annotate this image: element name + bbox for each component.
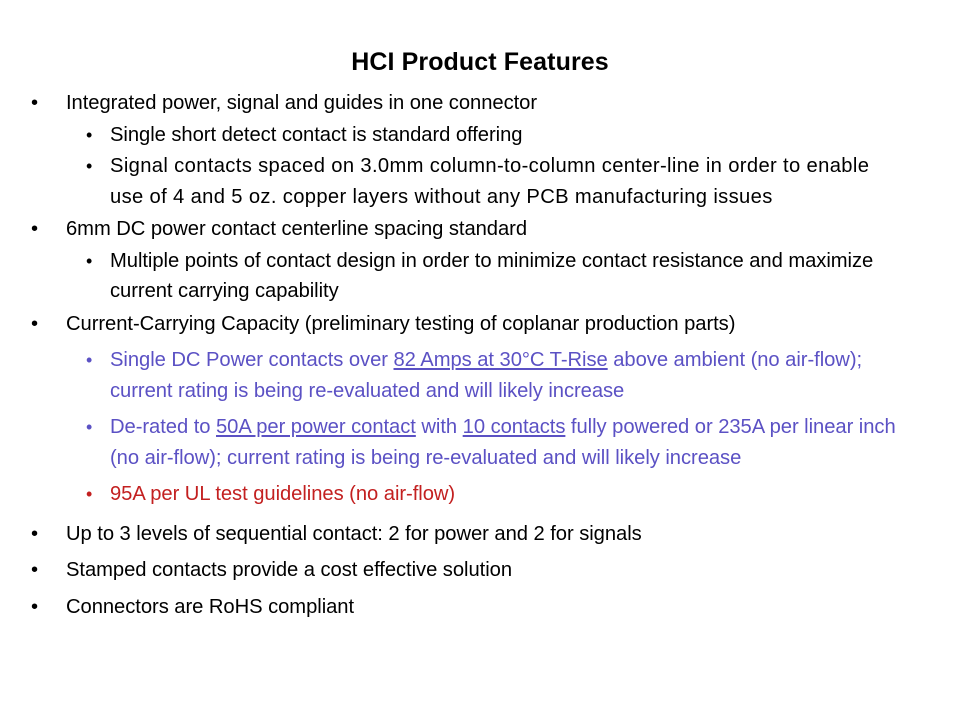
list-item-label: 95A per UL test guidelines (no air-flow) bbox=[110, 483, 455, 505]
bullet-list: Integrated power, signal and guides in o… bbox=[0, 88, 960, 623]
bullet-marker-icon bbox=[31, 555, 38, 586]
list-item: Multiple points of contact design in ord… bbox=[0, 246, 960, 307]
list-item-label: Integrated power, signal and guides in o… bbox=[66, 92, 537, 114]
bullet-marker-icon bbox=[31, 309, 38, 340]
bullet-marker-icon bbox=[31, 519, 38, 550]
bullet-marker-icon bbox=[31, 88, 38, 119]
list-item-label: Connectors are RoHS compliant bbox=[66, 596, 354, 618]
list-item-label: Single short detect contact is standard … bbox=[110, 124, 522, 146]
bullet-marker-icon bbox=[86, 246, 92, 277]
list-item: De-rated to 50A per power contact with 1… bbox=[0, 412, 960, 473]
bullet-marker-icon bbox=[86, 120, 92, 151]
bullet-marker-icon bbox=[86, 412, 92, 443]
list-item: Up to 3 levels of sequential contact: 2 … bbox=[0, 519, 960, 550]
list-item-label: Up to 3 levels of sequential contact: 2 … bbox=[66, 523, 642, 545]
text-segment-underlined: 10 contacts bbox=[463, 416, 566, 438]
text-segment: Single DC Power contacts over bbox=[110, 349, 394, 371]
list-item-label: Stamped contacts provide a cost effectiv… bbox=[66, 559, 512, 581]
text-segment-underlined: 50A per power contact bbox=[216, 416, 416, 438]
list-item-label: Current-Carrying Capacity (preliminary t… bbox=[66, 313, 735, 335]
list-item: Stamped contacts provide a cost effectiv… bbox=[0, 555, 960, 586]
list-item-label: Multiple points of contact design in ord… bbox=[110, 250, 873, 303]
slide-canvas: HCI Product Features Integrated power, s… bbox=[0, 0, 960, 720]
list-item: Signal contacts spaced on 3.0mm column-t… bbox=[0, 151, 960, 212]
text-segment: De-rated to bbox=[110, 416, 216, 438]
list-item: Current-Carrying Capacity (preliminary t… bbox=[0, 309, 960, 340]
list-item: Single short detect contact is standard … bbox=[0, 120, 960, 151]
list-item-label: Signal contacts spaced on 3.0mm column-t… bbox=[110, 155, 869, 208]
list-item-label: 6mm DC power contact centerline spacing … bbox=[66, 218, 527, 240]
bullet-marker-icon bbox=[86, 479, 92, 510]
bullet-marker-icon bbox=[31, 214, 38, 245]
list-item-label: De-rated to 50A per power contact with 1… bbox=[110, 416, 896, 469]
list-item: Connectors are RoHS compliant bbox=[0, 592, 960, 623]
list-item: Single DC Power contacts over 82 Amps at… bbox=[0, 345, 960, 406]
bullet-marker-icon bbox=[86, 345, 92, 376]
list-item-label: Single DC Power contacts over 82 Amps at… bbox=[110, 349, 862, 402]
list-item: 6mm DC power contact centerline spacing … bbox=[0, 214, 960, 245]
text-segment: with bbox=[416, 416, 463, 438]
page-title: HCI Product Features bbox=[0, 49, 960, 77]
list-item: 95A per UL test guidelines (no air-flow) bbox=[0, 479, 960, 510]
text-segment-underlined: 82 Amps at 30°C T-Rise bbox=[394, 349, 608, 371]
list-item: Integrated power, signal and guides in o… bbox=[0, 88, 960, 119]
bullet-marker-icon bbox=[86, 151, 92, 182]
bullet-marker-icon bbox=[31, 592, 38, 623]
